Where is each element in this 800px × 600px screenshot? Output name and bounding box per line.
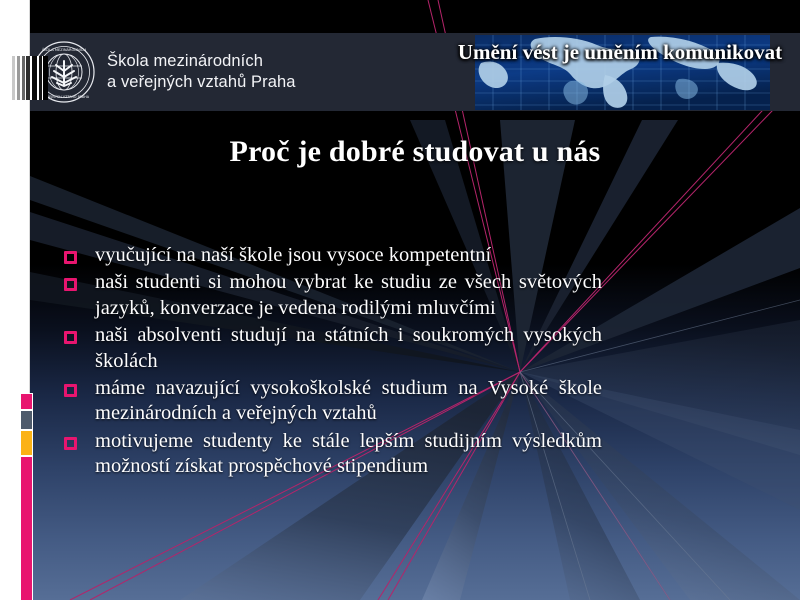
- list-item-label: motivujeme studenty ke stále lepším stud…: [95, 429, 602, 480]
- list-item: naši studenti si mohou vybrat ke studiu …: [62, 270, 602, 321]
- hollow-square-bullet-icon: [64, 251, 77, 264]
- list-item: motivujeme studenty ke stále lepším stud…: [62, 429, 602, 480]
- list-item-label: naši absolventi studují na státních i so…: [95, 323, 602, 374]
- header-tagline: Umění vést je uměním komunikovat: [455, 40, 785, 65]
- presentation-slide: ŠKOLA MEZINÁRODNÍCH A VEŘEJNÝCH VZTAHŮ P…: [0, 0, 800, 600]
- list-item: vyučující na naší škole jsou vysoce komp…: [62, 243, 602, 268]
- page-title: Proč je dobré studovat u nás: [30, 135, 800, 169]
- hollow-square-bullet-icon: [64, 437, 77, 450]
- hollow-square-bullet-icon: [64, 278, 77, 291]
- institution-name: Škola mezinárodních a veřejných vztahů P…: [107, 51, 296, 93]
- list-item-label: vyučující na naší škole jsou vysoce komp…: [95, 243, 602, 268]
- barcode-stripes-icon: [12, 56, 48, 100]
- list-item: máme navazující vysokoškolské studium na…: [62, 376, 602, 427]
- hollow-square-bullet-icon: [64, 384, 77, 397]
- institution-branding: ŠKOLA MEZINÁRODNÍCH A VEŘEJNÝCH VZTAHŮ P…: [33, 38, 296, 106]
- list-item: naši absolventi studují na státních i so…: [62, 323, 602, 374]
- hollow-square-bullet-icon: [64, 331, 77, 344]
- svg-text:ŠKOLA MEZINÁRODNÍCH: ŠKOLA MEZINÁRODNÍCH: [42, 47, 86, 52]
- list-item-label: máme navazující vysokoškolské studium na…: [95, 376, 602, 427]
- list-item-label: naši studenti si mohou vybrat ke studiu …: [95, 270, 602, 321]
- vertical-color-bar-icon: [20, 393, 33, 600]
- bullet-list: vyučující na naší škole jsou vysoce komp…: [62, 243, 602, 482]
